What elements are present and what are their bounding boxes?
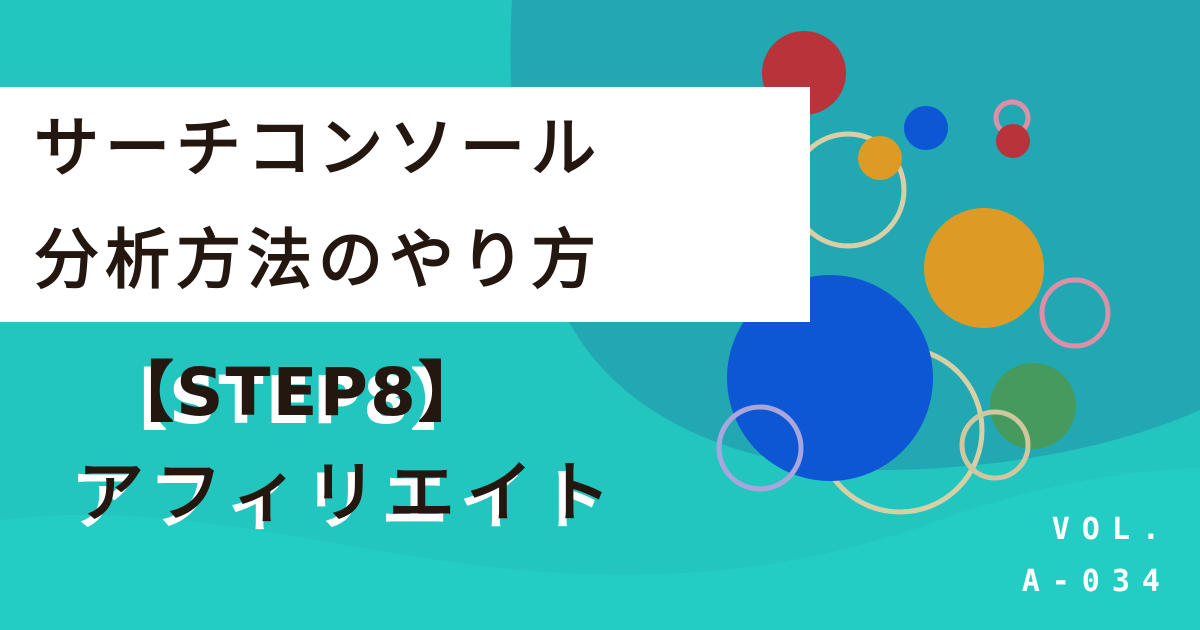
volume-number: A-034 [1022,556,1172,608]
subtitle-step: 【STEP8】 [0,345,900,441]
green-circle [990,363,1076,449]
volume-block: VOL. A-034 [1022,504,1172,608]
blue-circle-small [904,106,948,150]
thumbnail-canvas: サーチコンソール 分析方法のやり方 【STEP8】 アフィリエイト VOL. A… [0,0,1200,630]
title-plate: サーチコンソール 分析方法のやり方 [0,87,810,322]
red-circle-small [996,124,1030,158]
title-line-1: サーチコンソール [34,93,810,205]
subtitle-main: アフィリエイト [0,441,900,545]
title-line-2: 分析方法のやり方 [34,205,810,317]
volume-label: VOL. [1022,504,1172,556]
subtitle-group: 【STEP8】 アフィリエイト [0,345,900,545]
orange-circle-small [858,136,902,180]
orange-circle-large [924,208,1044,328]
